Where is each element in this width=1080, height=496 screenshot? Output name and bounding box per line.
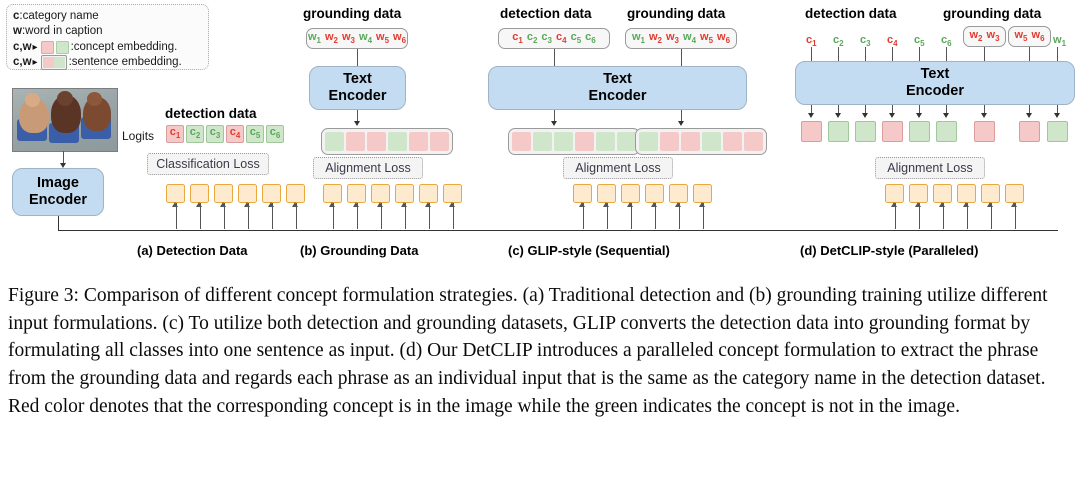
figure-caption: Figure 3: Comparison of different concep… [8, 282, 1072, 420]
panel-b-caption: (b) Grounding Data [300, 243, 418, 258]
token-w5: w5 [376, 32, 389, 45]
panel-c-text-encoder-box[interactable]: Text Encoder [488, 66, 747, 110]
panel-d-header-grounding-data: grounding data [943, 6, 1041, 21]
panel-d-token-c1[interactable]: c1 [806, 30, 817, 48]
region-box [621, 184, 640, 203]
panel-a-logit-c4: c4 [226, 125, 244, 143]
photo-bear-3-head [87, 92, 102, 106]
region-feed-arrow-icon [915, 202, 921, 207]
panel-d-token-c6[interactable]: c6 [941, 30, 952, 48]
panel-c-input-detection[interactable]: c1 c2 c3 c4 c5 c6 [498, 28, 610, 49]
emb-cell [325, 132, 344, 151]
panel-d-region-boxes [885, 184, 1024, 203]
panel-d-stub-8 [1029, 47, 1030, 61]
token-w2: w2 [649, 32, 662, 45]
region-feed-arrow-icon [939, 202, 945, 207]
text-encoder-label-line2: Encoder [588, 88, 646, 105]
emb-cell [575, 132, 594, 151]
emb-cell [430, 132, 449, 151]
token-c4: c4 [556, 32, 567, 45]
panel-a-region-boxes [166, 184, 305, 203]
panel-c-sentence-embedding-grounding [635, 128, 767, 155]
panel-d-emb-cell-8 [1019, 121, 1040, 142]
image-encoder-label-line1: Image [37, 175, 79, 192]
panel-c-grd-to-encoder-line [681, 49, 682, 66]
region-feed-arrow-icon [449, 202, 455, 207]
panel-a-logit-c3: c3 [206, 125, 224, 143]
legend-swatch-sentence-red [43, 57, 54, 68]
panel-b-input-to-encoder-line [357, 49, 358, 66]
panel-a-logit-c5: c5 [246, 125, 264, 143]
panel-d-out-arrow-1-icon [808, 113, 814, 118]
emb-cell [596, 132, 615, 151]
token-c2: c2 [527, 32, 538, 45]
emb-cell [681, 132, 700, 151]
panel-d-stub-9 [1057, 47, 1058, 61]
panel-d-out-arrow-6-icon [943, 113, 949, 118]
region-feed-arrow-icon [329, 202, 335, 207]
panel-d-emb-cell-5 [909, 121, 930, 142]
panel-d-emb-cell-9 [1047, 121, 1068, 142]
legend-line-sentence-embedding: c,w ▸ :sentence embedding. [13, 55, 202, 70]
panel-c-det-to-encoder-line [554, 49, 555, 66]
token-w1: w1 [632, 32, 645, 45]
panel-d-stub-5 [919, 47, 920, 61]
region-box [957, 184, 976, 203]
emb-cell [702, 132, 721, 151]
region-feed-arrow-icon [1011, 202, 1017, 207]
panel-c-encoder-to-emb-right-arrow-icon [678, 121, 684, 126]
panel-d-stub-4 [892, 47, 893, 61]
panel-a-header-detection-data: detection data [165, 106, 257, 121]
emb-cell [388, 132, 407, 151]
photo-bear-1-head [25, 93, 40, 107]
emb-cell [723, 132, 742, 151]
legend-text-category: :category name [19, 9, 98, 24]
region-feed-arrow-icon [579, 202, 585, 207]
legend-swatch-sentence [41, 55, 67, 70]
emb-cell [346, 132, 365, 151]
panel-d-out-arrow-2-icon [835, 113, 841, 118]
region-box [323, 184, 342, 203]
panel-d-out-arrow-9-icon [1054, 113, 1060, 118]
emb-cell [660, 132, 679, 151]
token-c3: c3 [541, 32, 552, 45]
legend-key-cw-sentence: c,w [13, 55, 32, 70]
image-encoder-bus-line [58, 230, 1058, 231]
token-w2: w2 [969, 30, 982, 43]
region-box [597, 184, 616, 203]
token-w6: w6 [393, 32, 406, 45]
emb-cell [617, 132, 636, 151]
token-c6: c6 [585, 32, 596, 45]
image-encoder-label-line2: Encoder [29, 192, 87, 209]
panel-b-encoder-to-emb-arrow-icon [354, 121, 360, 126]
panel-d-token-c5[interactable]: c5 [914, 30, 925, 48]
panel-a-logit-c6: c6 [266, 125, 284, 143]
token-w3: w3 [987, 30, 1000, 43]
panel-d-token-c3[interactable]: c3 [860, 30, 871, 48]
region-box [214, 184, 233, 203]
emb-cell [639, 132, 658, 151]
token-c1: c1 [512, 32, 523, 45]
panel-d-out-arrow-3-icon [862, 113, 868, 118]
panel-d-token-c4[interactable]: c4 [887, 30, 898, 48]
token-w2: w2 [325, 32, 338, 45]
region-feed-arrow-icon [292, 202, 298, 207]
region-feed-arrow-icon [627, 202, 633, 207]
region-box [166, 184, 185, 203]
region-box [395, 184, 414, 203]
panel-c-alignment-loss: Alignment Loss [563, 157, 673, 179]
region-box [885, 184, 904, 203]
region-box [693, 184, 712, 203]
legend-text-concept: :concept embedding. [71, 40, 178, 55]
panel-d-stub-1 [811, 47, 812, 61]
emb-cell [409, 132, 428, 151]
panel-a-logit-c2: c2 [186, 125, 204, 143]
token-w1: w1 [308, 32, 321, 45]
region-feed-arrow-icon [987, 202, 993, 207]
legend-key-w: w [13, 24, 22, 39]
region-box [933, 184, 952, 203]
region-box [443, 184, 462, 203]
input-image-teddy-bears [12, 88, 118, 152]
panel-d-out-arrow-8-icon [1026, 113, 1032, 118]
panel-b-region-boxes [323, 184, 462, 203]
image-encoder-box[interactable]: Image Encoder [12, 168, 104, 216]
region-box [981, 184, 1000, 203]
text-encoder-label-line1: Text [603, 71, 632, 88]
legend-arrow-icon-2: ▸ [33, 56, 38, 69]
panel-d-caption: (d) DetCLIP-style (Paralleled) [800, 243, 978, 258]
region-box [262, 184, 281, 203]
region-box [286, 184, 305, 203]
region-feed-arrow-icon [172, 202, 178, 207]
region-feed-arrow-icon [699, 202, 705, 207]
region-box [909, 184, 928, 203]
panel-a-logit-cells: c1 c2 c3 c4 c5 c6 [166, 125, 284, 143]
panel-d-emb-cell-6 [936, 121, 957, 142]
panel-d-emb-cell-3 [855, 121, 876, 142]
figure-diagram: c:category name w:word in caption c,w ▸ … [0, 0, 1080, 270]
region-box [419, 184, 438, 203]
panel-d-token-c2[interactable]: c2 [833, 30, 844, 48]
text-encoder-label-line1: Text [343, 71, 372, 88]
region-feed-arrow-icon [675, 202, 681, 207]
panel-c-input-grounding[interactable]: w1 w2 w3 w4 w5 w6 [625, 28, 737, 49]
panel-a-caption: (a) Detection Data [137, 243, 248, 258]
panel-d-header-detection-data: detection data [805, 6, 897, 21]
panel-b-alignment-loss: Alignment Loss [313, 157, 423, 179]
region-feed-arrow-icon [963, 202, 969, 207]
region-box [573, 184, 592, 203]
photo-bear-2-head [57, 91, 73, 106]
panel-a-classification-loss: Classification Loss [147, 153, 269, 175]
region-feed-arrow-icon [891, 202, 897, 207]
legend-line-category: c:category name [13, 9, 202, 24]
region-feed-arrow-icon [244, 202, 250, 207]
legend-swatch-red [41, 41, 54, 54]
panel-c-header-grounding-data: grounding data [627, 6, 725, 21]
panel-b-input-sentence[interactable]: w1 w2 w3 w4 w5 w6 [306, 28, 408, 49]
panel-d-emb-cell-4 [882, 121, 903, 142]
panel-d-alignment-loss: Alignment Loss [875, 157, 985, 179]
panel-d-token-w1[interactable]: w1 [1053, 30, 1066, 48]
region-box [238, 184, 257, 203]
panel-d-stub-6 [946, 47, 947, 61]
panel-d-emb-cell-1 [801, 121, 822, 142]
token-w3: w3 [342, 32, 355, 45]
panel-d-out-arrow-5-icon [916, 113, 922, 118]
panel-d-phrase-w2w3[interactable]: w2 w3 [963, 26, 1006, 47]
panel-d-emb-cell-2 [828, 121, 849, 142]
panel-d-stub-7 [984, 47, 985, 61]
token-w4: w4 [359, 32, 372, 45]
token-w4: w4 [683, 32, 696, 45]
token-w3: w3 [666, 32, 679, 45]
panel-c-header-detection-data: detection data [500, 6, 592, 21]
legend-line-concept-embedding: c,w ▸ :concept embedding. [13, 40, 202, 55]
emb-cell [744, 132, 763, 151]
panel-d-out-arrow-7-icon [981, 113, 987, 118]
panel-d-stub-3 [865, 47, 866, 61]
region-feed-arrow-icon [268, 202, 274, 207]
legend-swatch-concept [41, 41, 69, 54]
region-box [645, 184, 664, 203]
panel-d-phrase-w5w6[interactable]: w5 w6 [1008, 26, 1051, 47]
region-feed-arrow-icon [196, 202, 202, 207]
legend-swatch-sentence-green [54, 57, 65, 68]
legend-box: c:category name w:word in caption c,w ▸ … [6, 4, 209, 70]
legend-key-cw-concept: c,w [13, 40, 32, 55]
text-encoder-label-line2: Encoder [906, 83, 964, 100]
text-encoder-label-line1: Text [921, 66, 950, 83]
region-feed-arrow-icon [401, 202, 407, 207]
panel-a-logit-c1: c1 [166, 125, 184, 143]
region-box [371, 184, 390, 203]
region-box [190, 184, 209, 203]
panel-b-header-grounding-data: grounding data [303, 6, 401, 21]
panel-c-caption: (c) GLIP-style (Sequential) [508, 243, 670, 258]
region-feed-arrow-icon [603, 202, 609, 207]
token-w6: w6 [717, 32, 730, 45]
region-feed-arrow-icon [220, 202, 226, 207]
legend-text-word: :word in caption [22, 24, 103, 39]
token-w6: w6 [1032, 30, 1045, 43]
region-feed-arrow-icon [353, 202, 359, 207]
panel-b-sentence-embedding [321, 128, 453, 155]
legend-line-word: w:word in caption [13, 24, 202, 39]
region-feed-arrow-icon [425, 202, 431, 207]
legend-swatch-green [56, 41, 69, 54]
region-box [669, 184, 688, 203]
text-encoder-label-line2: Encoder [328, 88, 386, 105]
token-w5: w5 [1014, 30, 1027, 43]
token-c5: c5 [571, 32, 582, 45]
panel-d-stub-2 [838, 47, 839, 61]
panel-d-text-encoder-box[interactable]: Text Encoder [795, 61, 1075, 105]
panel-c-region-boxes [573, 184, 712, 203]
region-feed-arrow-icon [377, 202, 383, 207]
region-box [347, 184, 366, 203]
panel-d-emb-cell-7 [974, 121, 995, 142]
panel-b-text-encoder-box[interactable]: Text Encoder [309, 66, 406, 110]
token-w5: w5 [700, 32, 713, 45]
legend-arrow-icon: ▸ [33, 41, 38, 54]
panel-a-logits-label: Logits [122, 129, 154, 143]
panel-d-out-arrow-4-icon [889, 113, 895, 118]
panel-c-encoder-to-emb-left-arrow-icon [551, 121, 557, 126]
emb-cell [554, 132, 573, 151]
panel-c-sentence-embedding-detection [508, 128, 640, 155]
emb-cell [533, 132, 552, 151]
legend-text-sentence: :sentence embedding. [69, 55, 182, 70]
emb-cell [512, 132, 531, 151]
emb-cell [367, 132, 386, 151]
region-box [1005, 184, 1024, 203]
region-feed-arrow-icon [651, 202, 657, 207]
